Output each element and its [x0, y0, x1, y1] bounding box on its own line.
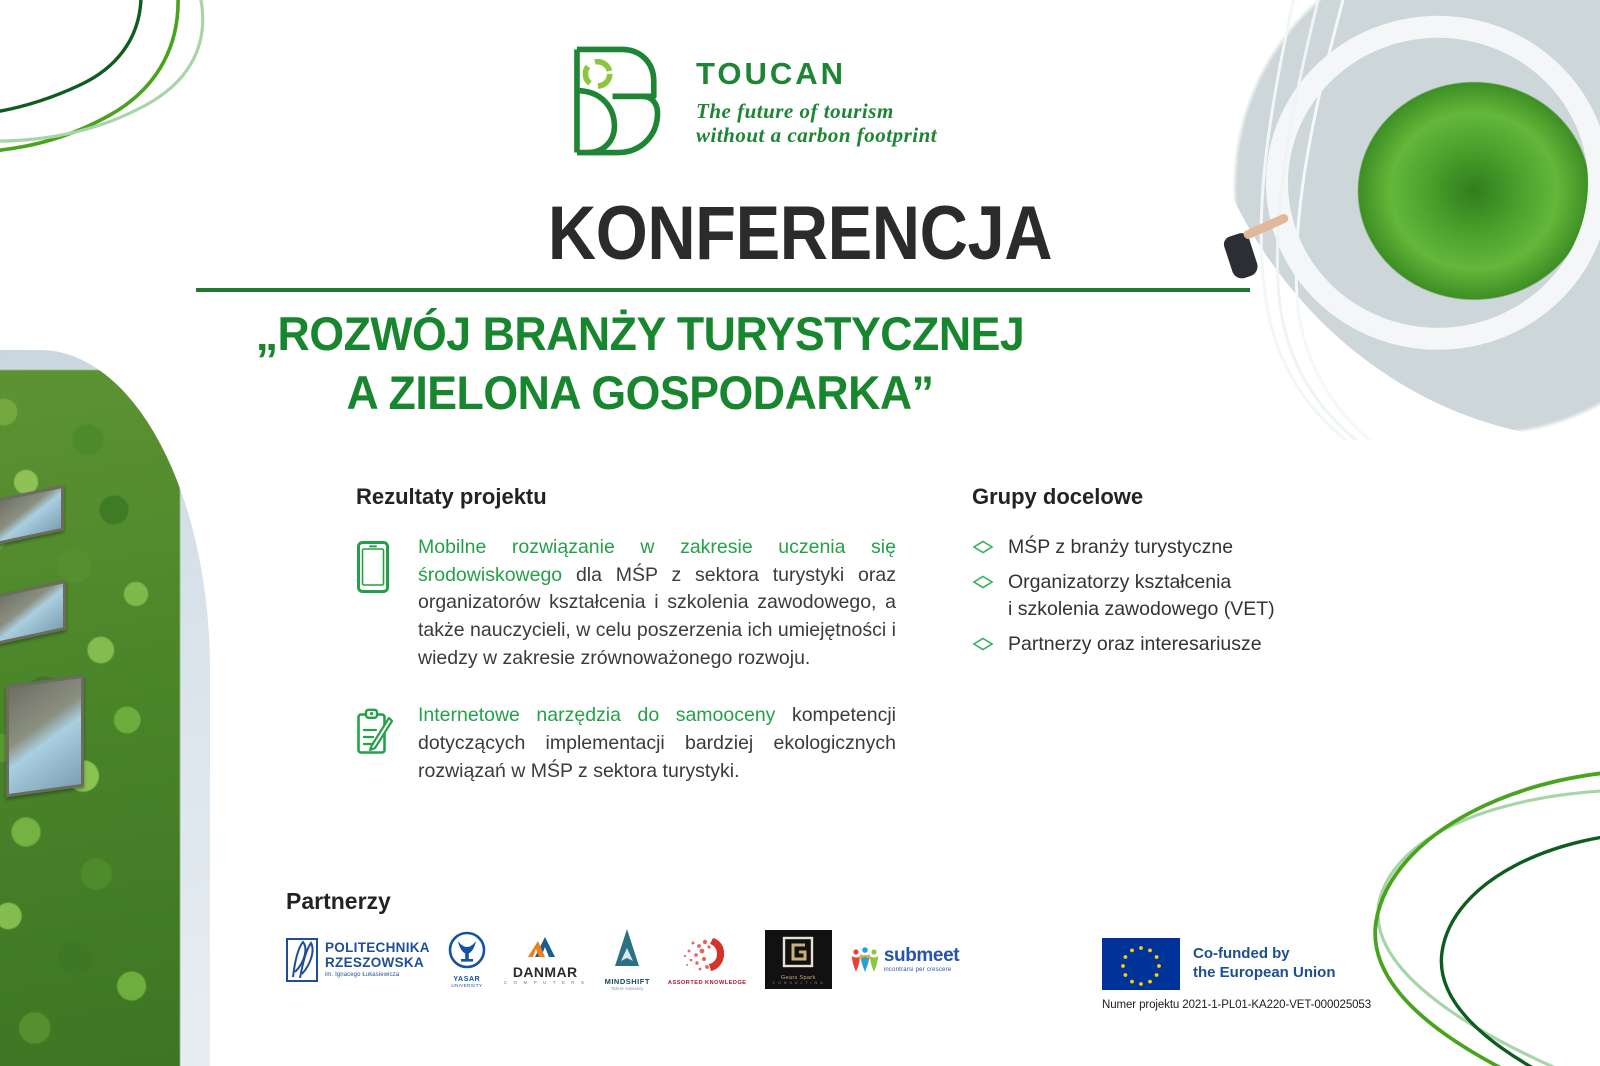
list-item-label: Partnerzy oraz interesariusze	[1008, 631, 1262, 658]
assorted-knowledge-logo: ASSORTED KNOWLEDGE	[668, 934, 747, 986]
swoosh-top-left-icon	[0, 0, 300, 180]
assorted-knowledge-mark-icon	[679, 934, 735, 974]
eu-funding-line1: Co-funded by	[1193, 945, 1336, 964]
prz-line2: RZESZOWSKA	[325, 956, 430, 971]
politechnika-rzeszowska-logo: POLITECHNIKA RZESZOWSKA im. Ignacego Łuk…	[286, 938, 430, 982]
list-item-line2: i szkolenia zawodowego (VET)	[1008, 598, 1275, 620]
green-facade-building-photo	[0, 350, 210, 1066]
list-item-line1: Partnerzy oraz interesariusze	[1008, 633, 1262, 655]
yasar-line2: UNIVERSITY	[448, 983, 486, 988]
list-item: Organizatorzy kształcenia i szkolenia za…	[972, 569, 1312, 623]
results-heading: Rezultaty projektu	[356, 484, 896, 510]
target-groups-heading: Grupy docelowe	[972, 484, 1312, 510]
list-item-label: MŚP z branży turystyczne	[1008, 534, 1233, 561]
mindshift-line1: MINDSHIFT	[605, 977, 650, 986]
page-title-line1: „ROZWÓJ BRANŻY TURYSTYCZNEJ	[32, 305, 1248, 364]
diamond-bullet-icon	[972, 569, 994, 594]
list-item-line1: MŚP z branży turystyczne	[1008, 536, 1233, 558]
eu-funding-row: Co-funded by the European Union	[1102, 938, 1371, 990]
prz-mark-icon	[286, 938, 318, 982]
page-title-line2: A ZIELONA GOSPODARKA”	[32, 364, 1248, 423]
submeet-logo: submeet incontrarsi per crescere	[850, 945, 959, 975]
list-item-line1: Organizatorzy kształcenia	[1008, 571, 1231, 593]
submeet-line1: submeet	[884, 946, 959, 965]
prz-text: POLITECHNIKA RZESZOWSKA im. Ignacego Łuk…	[325, 941, 430, 978]
prz-line1: POLITECHNIKA	[325, 941, 430, 956]
submeet-line2: incontrarsi per crescere	[884, 967, 959, 973]
brand-name: TOUCAN	[696, 56, 937, 92]
list-item: MŚP z branży turystyczne	[972, 534, 1312, 561]
target-groups-section: Grupy docelowe MŚP z branży turystyczne	[972, 484, 1312, 666]
title-divider	[196, 288, 1250, 292]
result-highlight: Internetowe narzędzia do samooceny	[418, 704, 775, 726]
result-item: Mobilne rozwiązanie w zakresie uczenia s…	[356, 534, 896, 672]
mindshift-logo: MINDSHIFT Talent Advisory	[605, 928, 650, 991]
eu-funding-block: Co-funded by the European Union Numer pr…	[1102, 938, 1371, 1011]
brand-tagline-line1: The future of tourism	[696, 99, 937, 123]
toucan-logo: TOUCAN The future of tourism without a c…	[560, 42, 937, 160]
project-number: Numer projektu 2021-1-PL01-KA220-VET-000…	[1102, 999, 1371, 1011]
list-item-label: Organizatorzy kształcenia i szkolenia za…	[1008, 569, 1275, 623]
eu-funding-label: Co-funded by the European Union	[1193, 945, 1336, 982]
page-title: „ROZWÓJ BRANŻY TURYSTYCZNEJ A ZIELONA GO…	[32, 305, 1248, 423]
swoosh-bottom-right-icon	[1290, 706, 1600, 1066]
danmar-line2: C O M P U T E R S	[504, 980, 587, 985]
brand-tagline-line2: without a carbon footprint	[696, 123, 937, 147]
partners-heading: Partnerzy	[286, 888, 391, 915]
eu-flag-icon	[1102, 938, 1180, 990]
danmar-line1: DANMAR	[504, 964, 587, 980]
danmar-mark-icon	[525, 935, 565, 959]
assorted-knowledge-line1: ASSORTED KNOWLEDGE	[668, 980, 747, 986]
result-item: Internetowe narzędzia do samooceny kompe…	[356, 702, 896, 785]
toucan-logo-icon	[560, 42, 682, 160]
gears-spark-line2: C O N S U L T I N G	[773, 981, 824, 985]
clipboard-pencil-icon	[356, 702, 396, 785]
yasar-university-logo: YASAR UNIVERSITY	[448, 931, 486, 988]
prz-line3: im. Ignacego Łukasiewicza	[325, 972, 430, 979]
eu-stars-icon	[1102, 938, 1180, 990]
diamond-bullet-icon	[972, 631, 994, 656]
list-item: Partnerzy oraz interesariusze	[972, 631, 1312, 658]
yasar-line1: YASAR	[448, 976, 486, 983]
mobile-phone-icon	[356, 534, 396, 672]
danmar-computers-logo: DANMAR C O M P U T E R S	[504, 935, 587, 985]
yasar-mark-icon	[448, 931, 486, 969]
mindshift-mark-icon	[612, 928, 642, 970]
target-groups-list: MŚP z branży turystyczne Organizatorzy k…	[972, 534, 1312, 658]
gears-spark-mark-icon	[782, 936, 814, 968]
conference-poster: TOUCAN The future of tourism without a c…	[0, 0, 1600, 1066]
partners-logo-row: POLITECHNIKA RZESZOWSKA im. Ignacego Łuk…	[286, 928, 959, 991]
logo-text-block: TOUCAN The future of tourism without a c…	[696, 42, 937, 147]
results-section: Rezultaty projektu Mobilne rozwiązanie w…	[356, 484, 896, 816]
window	[6, 675, 84, 798]
brand-tagline: The future of tourism without a carbon f…	[696, 99, 937, 147]
result-text: Internetowe narzędzia do samooceny kompe…	[418, 702, 896, 785]
result-text: Mobilne rozwiązanie w zakresie uczenia s…	[418, 534, 896, 672]
diamond-bullet-icon	[972, 534, 994, 559]
page-title-kicker: KONFERENCJA	[96, 190, 1504, 277]
mindshift-line2: Talent Advisory	[605, 986, 650, 991]
submeet-mark-icon	[850, 945, 880, 975]
eu-funding-line2: the European Union	[1193, 964, 1336, 983]
gears-spark-logo: Gears Spark C O N S U L T I N G	[765, 930, 832, 989]
